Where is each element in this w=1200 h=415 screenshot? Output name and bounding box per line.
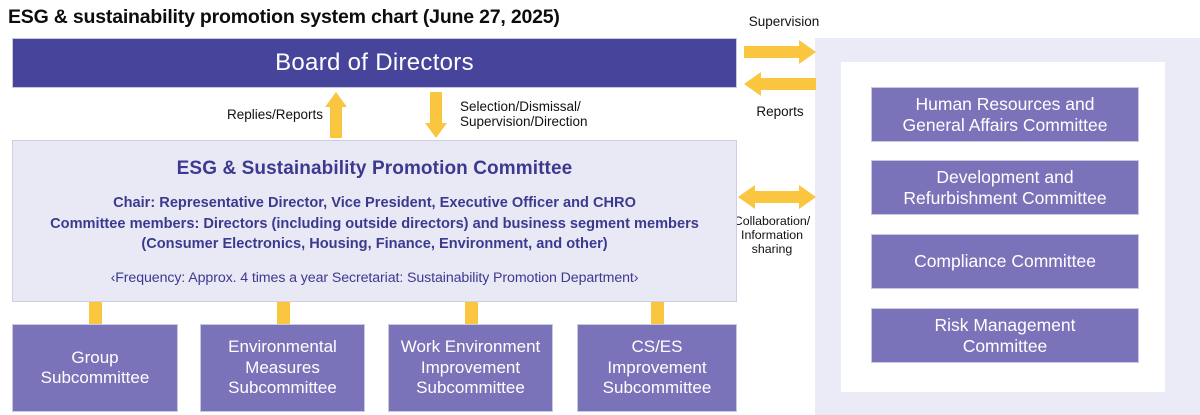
arrow-shaft: [330, 106, 342, 138]
subcommittee-label: Group Subcommittee: [41, 348, 150, 389]
arrow-head-right: [799, 185, 816, 209]
governance-committee-box[interactable]: Risk Management Committee: [871, 308, 1139, 363]
subcommittee-label: CS/ES Improvement Subcommittee: [603, 337, 712, 398]
page-title: ESG & sustainability promotion system ch…: [8, 2, 728, 32]
governance-committee-label: Risk Management Committee: [934, 315, 1075, 356]
subcommittee-box[interactable]: Work Environment Improvement Subcommitte…: [388, 324, 553, 412]
governance-committee-label: Compliance Committee: [914, 251, 1096, 272]
esg-committee-members: Committee members: Directors (including …: [13, 214, 736, 255]
selection-dismissal-arrow-icon: [425, 92, 447, 138]
governance-committee-label: Development and Refurbishment Committee: [903, 167, 1106, 208]
arrow-head-left: [738, 185, 755, 209]
esg-committee-title: ESG & Sustainability Promotion Committee: [13, 158, 736, 180]
governance-committee-label: Human Resources and General Affairs Comm…: [903, 94, 1108, 135]
board-of-directors-label: Board of Directors: [275, 49, 474, 77]
esg-system-chart: ESG & sustainability promotion system ch…: [0, 0, 1200, 415]
replies-reports-label: Replies/Reports: [205, 107, 323, 122]
arrow-shaft: [755, 191, 799, 203]
arrow-head: [325, 92, 347, 107]
subcommittee-label: Environmental Measures Subcommittee: [228, 337, 337, 398]
collaboration-arrow-icon: [738, 185, 816, 209]
arrow-shaft: [430, 92, 442, 124]
arrow-head: [799, 40, 816, 64]
reports-arrow-icon: [744, 72, 816, 96]
subcommittee-connector: [89, 302, 102, 324]
subcommittee-box[interactable]: CS/ES Improvement Subcommittee: [577, 324, 737, 412]
governance-committee-box[interactable]: Compliance Committee: [871, 234, 1139, 289]
subcommittee-label: Work Environment Improvement Subcommitte…: [401, 337, 541, 398]
subcommittee-box[interactable]: Group Subcommittee: [12, 324, 178, 412]
esg-committee-chair: Chair: Representative Director, Vice Pre…: [13, 193, 736, 214]
supervision-label: Supervision: [724, 14, 844, 29]
selection-dismissal-label: Selection/Dismissal/ Supervision/Directi…: [460, 99, 640, 129]
esg-committee-panel[interactable]: ESG & Sustainability Promotion Committee…: [12, 140, 737, 302]
subcommittee-connector: [465, 302, 478, 324]
subcommittee-box[interactable]: Environmental Measures Subcommittee: [200, 324, 365, 412]
subcommittee-connector: [277, 302, 290, 324]
governance-committee-box[interactable]: Human Resources and General Affairs Comm…: [871, 87, 1139, 142]
esg-committee-note: ‹Frequency: Approx. 4 times a year Secre…: [13, 270, 736, 286]
governance-committee-box[interactable]: Development and Refurbishment Committee: [871, 160, 1139, 215]
arrow-head: [425, 123, 447, 138]
reports-label: Reports: [724, 104, 836, 119]
collaboration-label: Collaboration/ Information sharing: [722, 214, 822, 256]
subcommittee-connector: [651, 302, 664, 324]
replies-reports-arrow-icon: [325, 92, 347, 138]
arrow-shaft: [744, 46, 799, 58]
arrow-head: [744, 72, 761, 96]
supervision-arrow-icon: [744, 40, 816, 64]
board-of-directors-box[interactable]: Board of Directors: [12, 38, 737, 88]
arrow-shaft: [761, 78, 816, 90]
